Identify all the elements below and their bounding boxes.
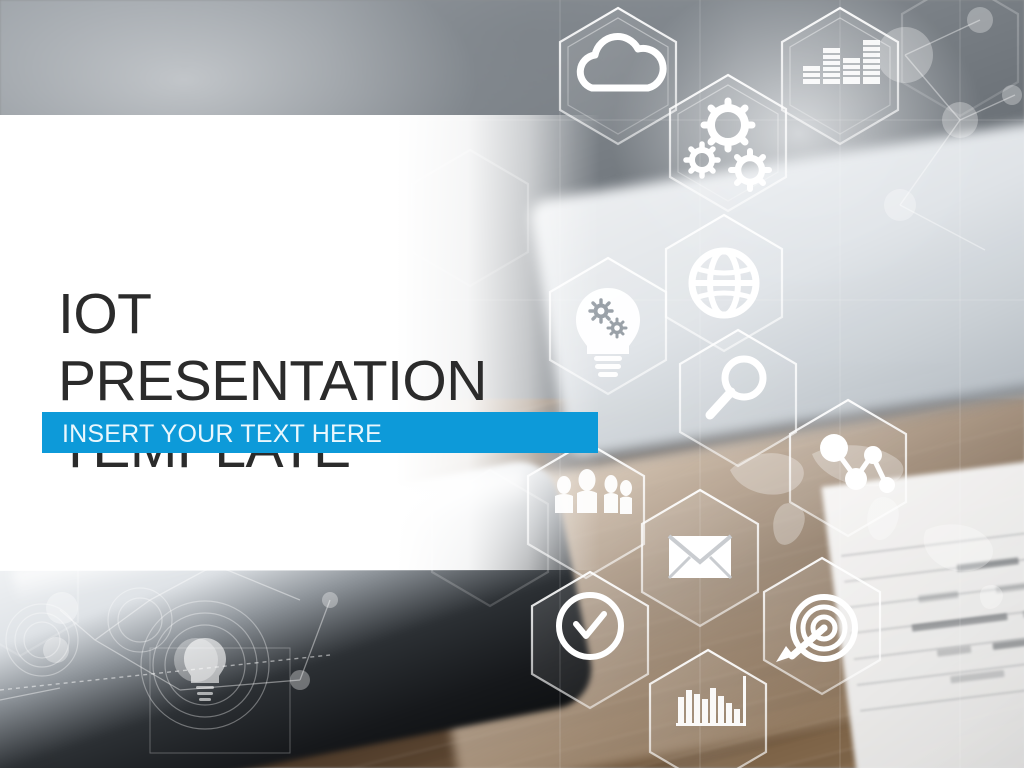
subtitle-bar-label: INSERT YOUR TEXT HERE <box>62 420 382 449</box>
node-dots-right <box>877 7 1022 221</box>
node-dots-bottom-left <box>43 592 338 690</box>
slide-canvas: IOT PRESENTATION TEMPLATE INSERT YOUR TE… <box>0 0 1024 768</box>
subtitle-bar[interactable]: INSERT YOUR TEXT HERE <box>42 412 598 453</box>
lightbulb-circles-icon <box>184 638 226 701</box>
envelope-icon <box>669 536 731 578</box>
